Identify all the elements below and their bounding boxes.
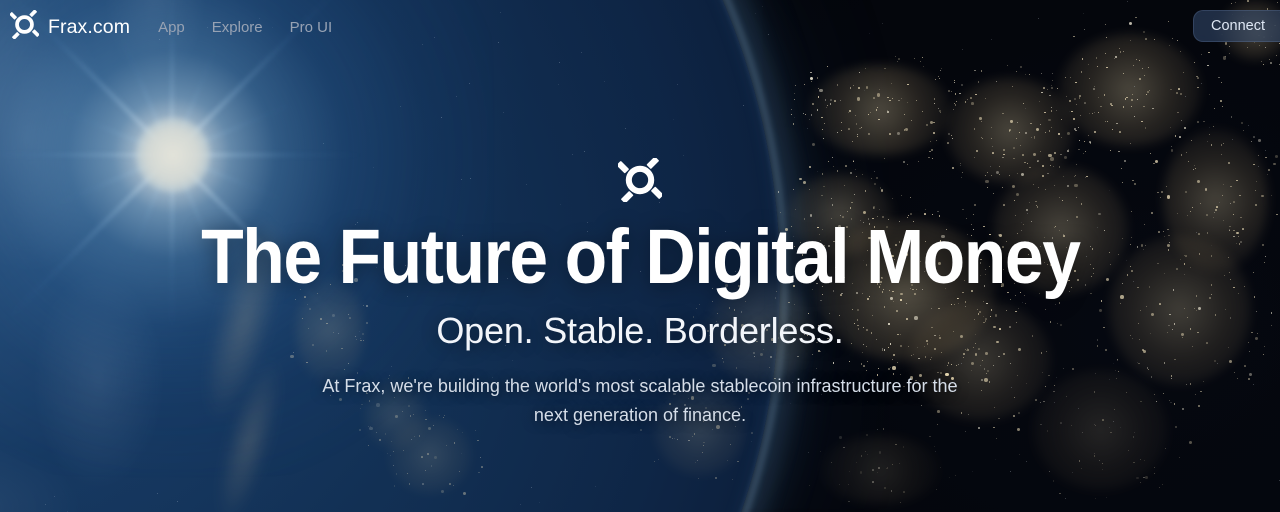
earth-globe [0, 0, 1280, 512]
hero-title: The Future of Digital Money [201, 219, 1079, 296]
city-lights [0, 0, 1280, 512]
frax-ring-icon [10, 10, 39, 44]
nav-link-app[interactable]: App [158, 19, 185, 36]
nav-link-pro-ui[interactable]: Pro UI [290, 19, 333, 36]
brand-logo[interactable]: Frax.com [10, 10, 130, 44]
space-background [0, 0, 1280, 512]
landing-page: Frax.com App Explore Pro UI Connect Th [0, 0, 1280, 512]
hero-subtitle: Open. Stable. Borderless. [436, 313, 843, 349]
brand-name: Frax.com [48, 16, 130, 39]
star-field [0, 0, 1280, 512]
connect-button-label: Connect [1211, 18, 1265, 34]
sun-glow [0, 0, 1280, 512]
hero-section: The Future of Digital Money Open. Stable… [0, 0, 1280, 512]
connect-button[interactable]: Connect [1193, 10, 1280, 42]
hero-frax-ring-icon [618, 158, 662, 207]
main-nav: App Explore Pro UI [158, 19, 332, 36]
nav-link-explore[interactable]: Explore [212, 19, 263, 36]
site-header: Frax.com App Explore Pro UI Connect [0, 0, 1280, 54]
hero-description: At Frax, we're building the world's most… [310, 372, 970, 430]
